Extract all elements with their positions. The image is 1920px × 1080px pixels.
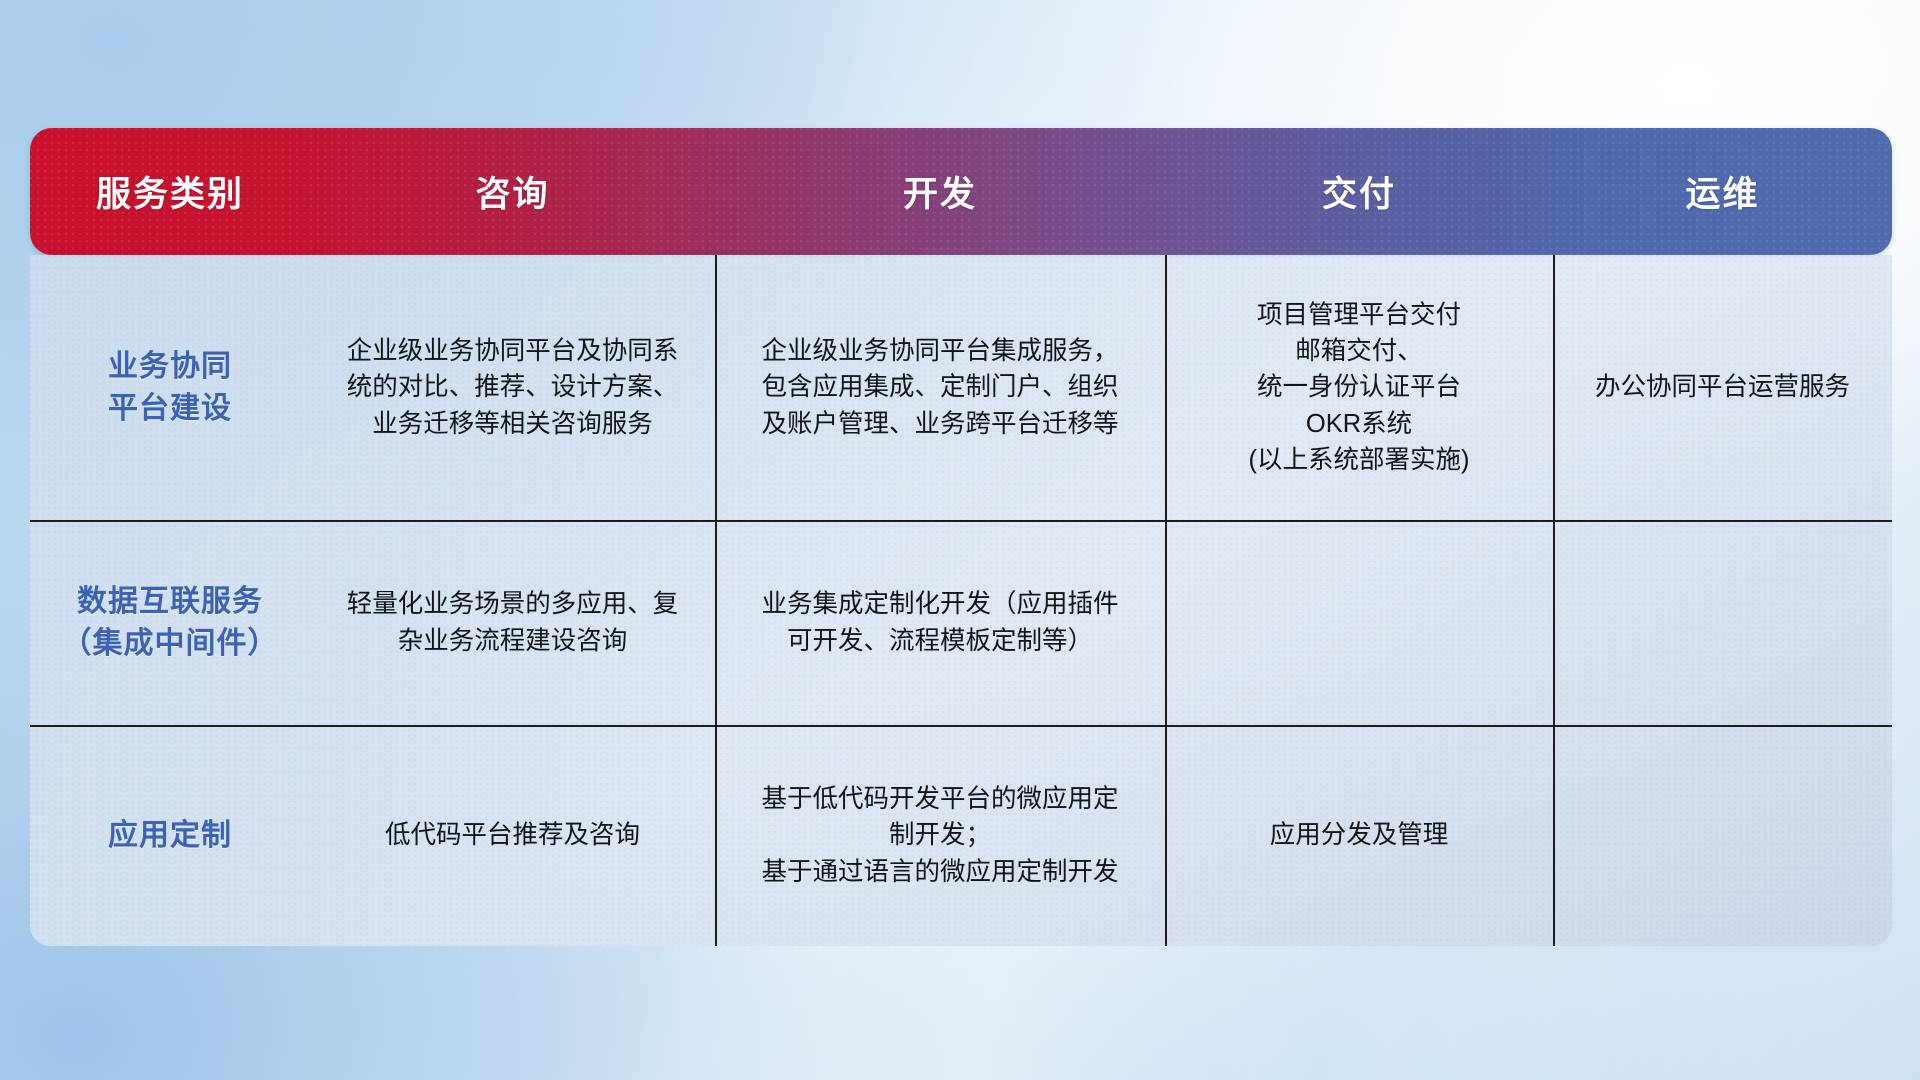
- cell-consulting: 低代码平台推荐及咨询: [310, 725, 715, 946]
- cell-development: 基于低代码开发平台的微应用定 制开发； 基于通过语言的微应用定制开发: [715, 725, 1165, 946]
- cell-delivery: 项目管理平台交付 邮箱交付、 统一身份认证平台 OKR系统 (以上系统部署实施): [1165, 255, 1553, 520]
- cell-operations: 办公协同平台运营服务: [1553, 255, 1892, 520]
- row-divider-1: [30, 520, 1892, 522]
- table-row: 数据互联服务 （集成中间件） 轻量化业务场景的多应用、复 杂业务流程建设咨询 业…: [30, 520, 1892, 725]
- cell-consulting: 企业级业务协同平台及协同系 统的对比、推荐、设计方案、 业务迁移等相关咨询服务: [310, 255, 715, 520]
- row-label-cell: 数据互联服务 （集成中间件）: [30, 520, 310, 725]
- table-body: 业务协同 平台建设 企业级业务协同平台及协同系 统的对比、推荐、设计方案、 业务…: [30, 255, 1892, 946]
- row-label-cell: 应用定制: [30, 725, 310, 946]
- column-header-operations-label: 运维: [1685, 166, 1759, 217]
- column-header-development-label: 开发: [903, 166, 977, 217]
- column-header-delivery: 交付: [1165, 128, 1553, 255]
- column-header-consulting-label: 咨询: [475, 166, 549, 217]
- column-header-category-label: 服务类别: [96, 166, 244, 217]
- row-label-cell: 业务协同 平台建设: [30, 255, 310, 520]
- cell-operations: [1553, 520, 1892, 725]
- cell-development: 企业级业务协同平台集成服务， 包含应用集成、定制门户、组织 及账户管理、业务跨平…: [715, 255, 1165, 520]
- row-divider-2: [30, 725, 1892, 727]
- cell-operations: [1553, 725, 1892, 946]
- table-row: 业务协同 平台建设 企业级业务协同平台及协同系 统的对比、推荐、设计方案、 业务…: [30, 255, 1892, 520]
- column-divider-3: [1553, 255, 1555, 946]
- column-header-delivery-label: 交付: [1322, 166, 1396, 217]
- table-header-row: 服务类别 咨询 开发 交付 运维: [30, 128, 1892, 255]
- service-matrix-table: 服务类别 咨询 开发 交付 运维 业务协同 平台建设 企业级业务协同平台及协同系…: [30, 128, 1892, 946]
- column-divider-2: [1165, 255, 1167, 946]
- column-divider-1: [715, 255, 717, 946]
- cell-consulting: 轻量化业务场景的多应用、复 杂业务流程建设咨询: [310, 520, 715, 725]
- column-header-consulting: 咨询: [310, 128, 715, 255]
- column-header-operations: 运维: [1553, 128, 1892, 255]
- column-header-category: 服务类别: [30, 128, 310, 255]
- column-header-development: 开发: [715, 128, 1165, 255]
- cell-delivery: [1165, 520, 1553, 725]
- cell-development: 业务集成定制化开发（应用插件 可开发、流程模板定制等）: [715, 520, 1165, 725]
- cell-delivery: 应用分发及管理: [1165, 725, 1553, 946]
- table-row: 应用定制 低代码平台推荐及咨询 基于低代码开发平台的微应用定 制开发； 基于通过…: [30, 725, 1892, 946]
